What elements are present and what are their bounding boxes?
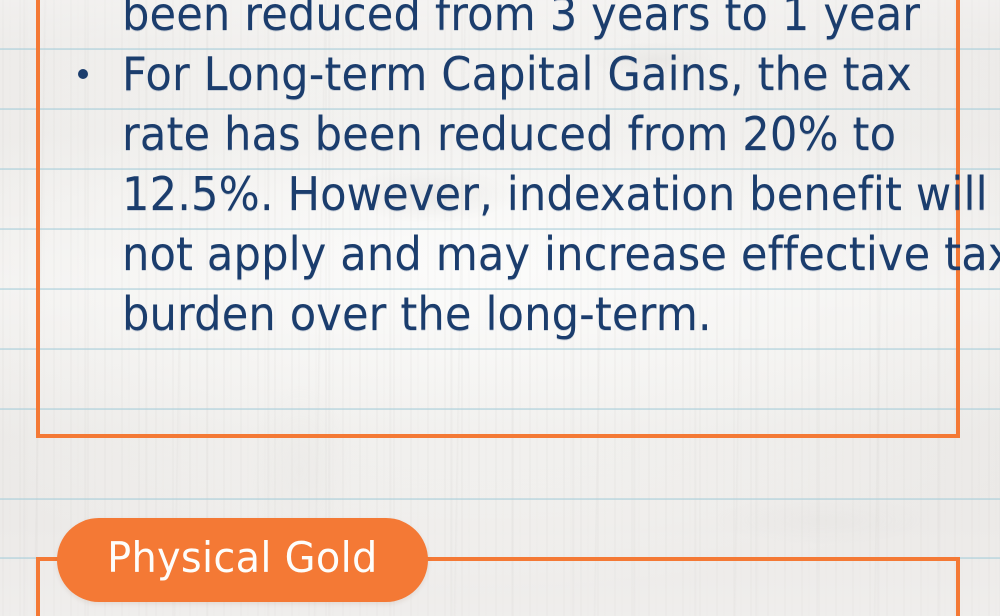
note-line-3: 12.5%. However, indexation benefit will: [70, 164, 950, 224]
physical-gold-badge[interactable]: Physical Gold: [57, 518, 428, 602]
note-line-text: burden over the long-term.: [122, 284, 712, 344]
note-line-text: rate has been reduced from 20% to: [122, 104, 896, 164]
note-line-2: rate has been reduced from 20% to: [70, 104, 950, 164]
bullet-icon: [78, 69, 88, 79]
note-line-5: burden over the long-term.: [70, 284, 950, 344]
note-line-text: For Long-term Capital Gains, the tax: [122, 44, 912, 104]
note-line-4: not apply and may increase effective tax: [70, 224, 950, 284]
capital-gains-note-text: been reduced from 3 years to 1 yearFor L…: [70, 0, 950, 344]
infographic-page: been reduced from 3 years to 1 yearFor L…: [0, 0, 1000, 616]
note-line-text: been reduced from 3 years to 1 year: [122, 0, 920, 44]
note-line-text: not apply and may increase effective tax: [122, 224, 1000, 284]
note-line-text: 12.5%. However, indexation benefit will: [122, 164, 988, 224]
note-line-1: For Long-term Capital Gains, the tax: [70, 44, 950, 104]
note-line-0: been reduced from 3 years to 1 year: [70, 0, 950, 44]
ruled-line-7: [0, 498, 1000, 500]
physical-gold-badge-label: Physical Gold: [107, 537, 377, 579]
